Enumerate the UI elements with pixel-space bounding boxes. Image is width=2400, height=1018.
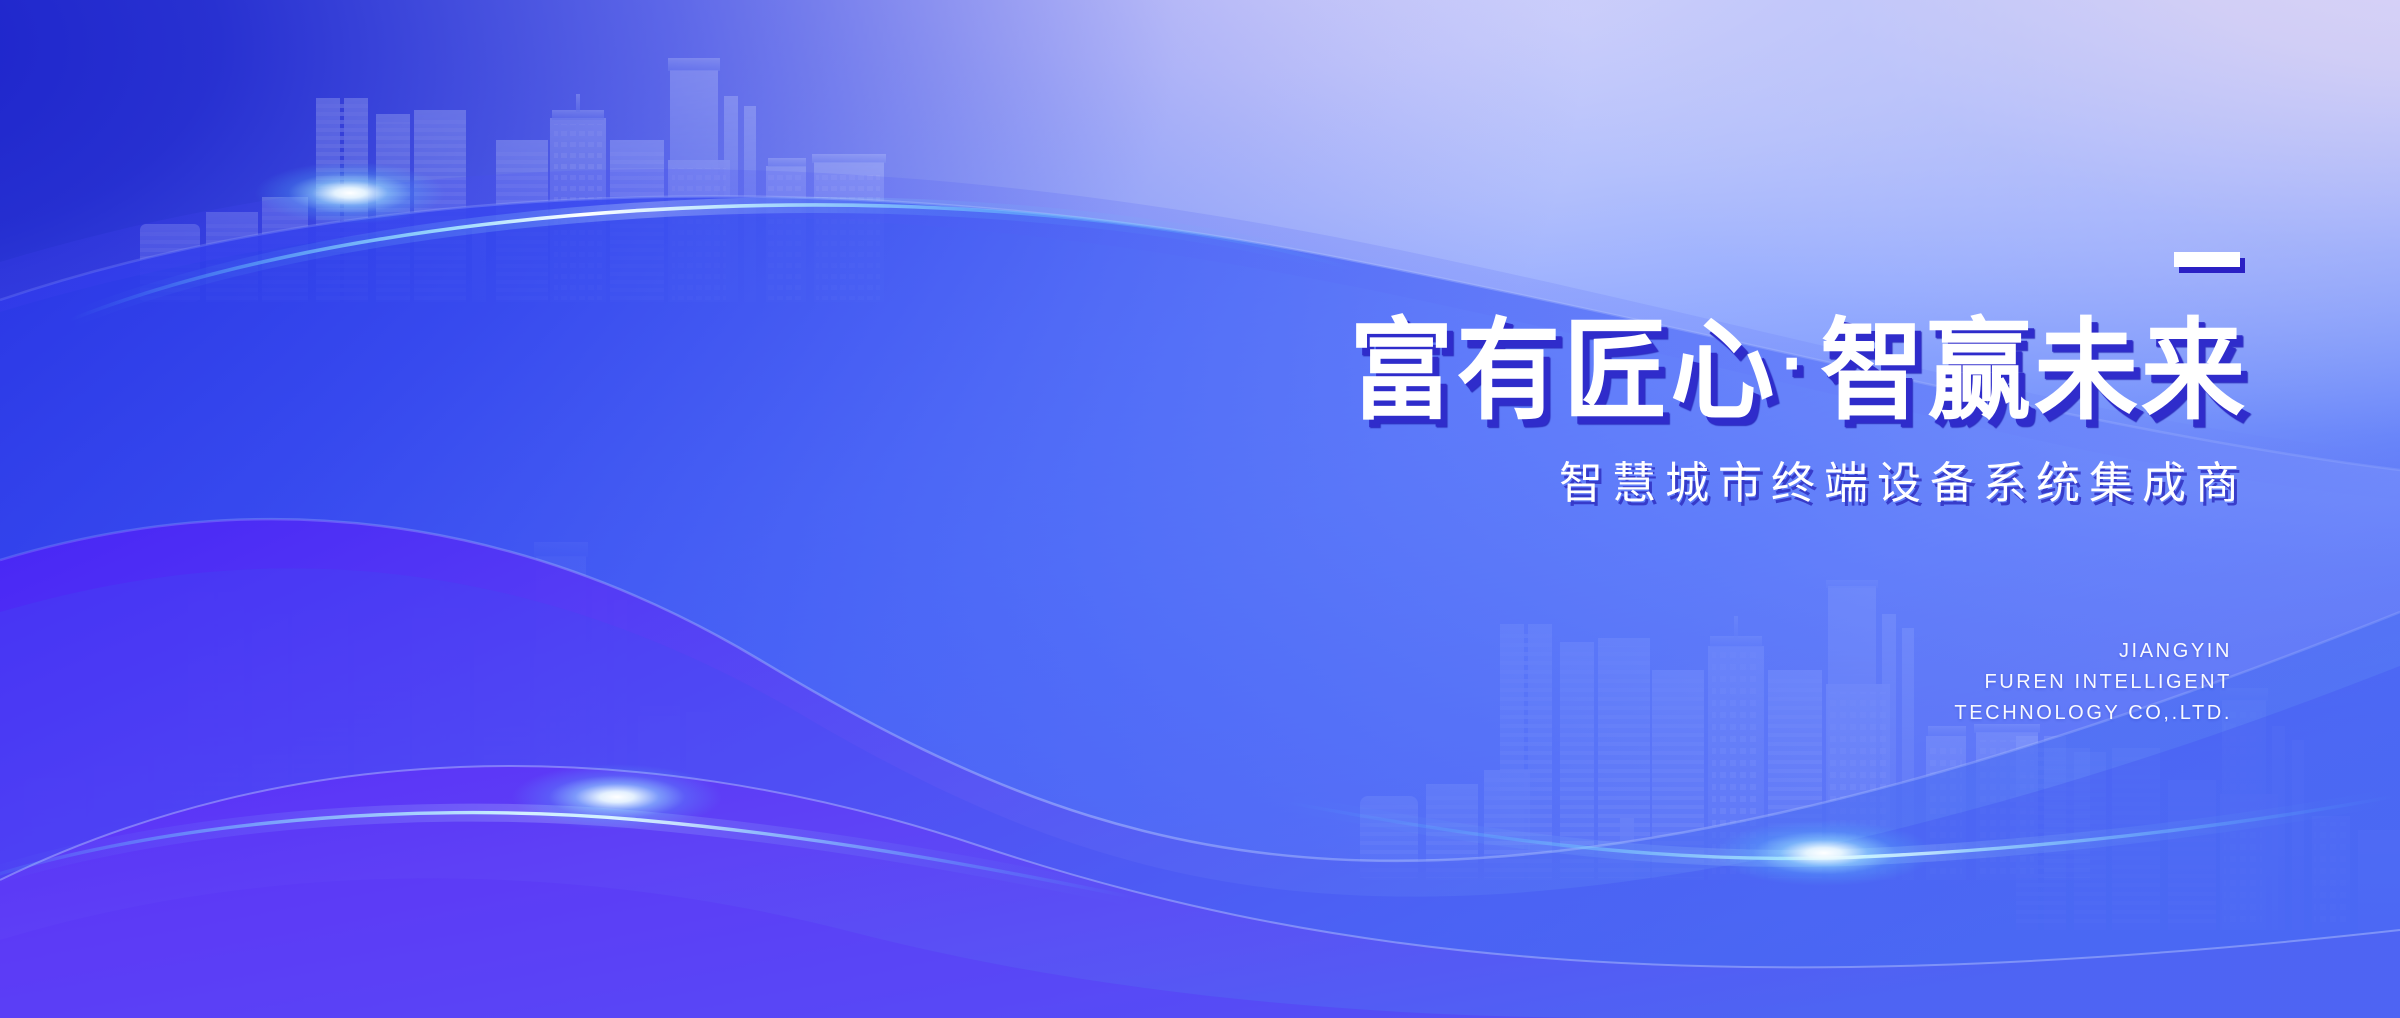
headline-part-1: 富有匠心 (1349, 311, 1777, 434)
company-line-2: FUREN INTELLIGENT (1954, 667, 2232, 698)
headline-block: 富有匠心·智赢未来 智慧城市终端设备系统集成商 (1068, 252, 2248, 508)
company-line-3: TECHNOLOGY CO,.LTD. (1954, 698, 2232, 729)
page-title: 富有匠心·智赢未来 (1068, 317, 2248, 427)
company-name-block: JIANGYIN FUREN INTELLIGENT TECHNOLOGY CO… (1954, 636, 2232, 729)
page-subtitle: 智慧城市终端设备系统集成商 (1068, 460, 2248, 508)
wave-layers (0, 0, 2400, 1018)
headline-part-2: 智赢未来 (1820, 311, 2248, 434)
company-line-1: JIANGYIN (1954, 636, 2232, 667)
accent-dash-mark (2174, 252, 2240, 267)
headline-separator: · (1777, 319, 1820, 407)
promo-banner: 富有匠心·智赢未来 智慧城市终端设备系统集成商 JIANGYIN FUREN I… (0, 0, 2400, 1018)
